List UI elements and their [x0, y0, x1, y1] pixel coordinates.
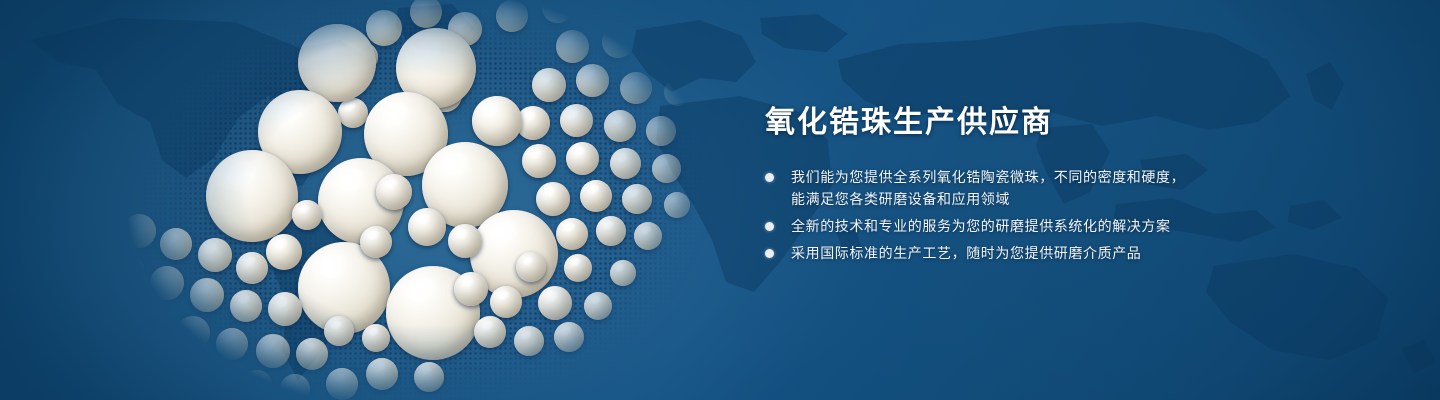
feature-bullet-2-line1: 全新的技术和专业的服务为您的研磨提供系统化的解决方案	[791, 218, 1171, 234]
zirconia-beads-photo	[118, 0, 728, 400]
feature-bullet-1-line1: 我们能为您提供全系列氧化锆陶瓷微珠，不同的密度和硬度，	[791, 169, 1185, 185]
feature-bullet-list: 我们能为您提供全系列氧化锆陶瓷微珠，不同的密度和硬度， 能满足您各类研磨设备和应…	[765, 166, 1285, 264]
feature-bullet-1: 我们能为您提供全系列氧化锆陶瓷微珠，不同的密度和硬度， 能满足您各类研磨设备和应…	[765, 166, 1285, 210]
banner-copy: 氧化锆珠生产供应商 我们能为您提供全系列氧化锆陶瓷微珠，不同的密度和硬度， 能满…	[765, 104, 1285, 269]
feature-bullet-3-line1: 采用国际标准的生产工艺，随时为您提供研磨介质产品	[791, 245, 1141, 261]
banner-headline: 氧化锆珠生产供应商	[765, 104, 1285, 142]
bead-cluster	[118, 0, 728, 400]
bullet-dot-icon	[765, 173, 774, 182]
feature-bullet-3: 采用国际标准的生产工艺，随时为您提供研磨介质产品	[765, 242, 1285, 264]
feature-bullet-1-line2: 能满足您各类研磨设备和应用领域	[791, 188, 1285, 210]
bullet-dot-icon	[765, 249, 774, 258]
feature-bullet-2: 全新的技术和专业的服务为您的研磨提供系统化的解决方案	[765, 215, 1285, 237]
hero-banner: 氧化锆珠生产供应商 我们能为您提供全系列氧化锆陶瓷微珠，不同的密度和硬度， 能满…	[0, 0, 1440, 400]
bullet-dot-icon	[765, 222, 774, 231]
halftone-texture	[118, 0, 728, 400]
